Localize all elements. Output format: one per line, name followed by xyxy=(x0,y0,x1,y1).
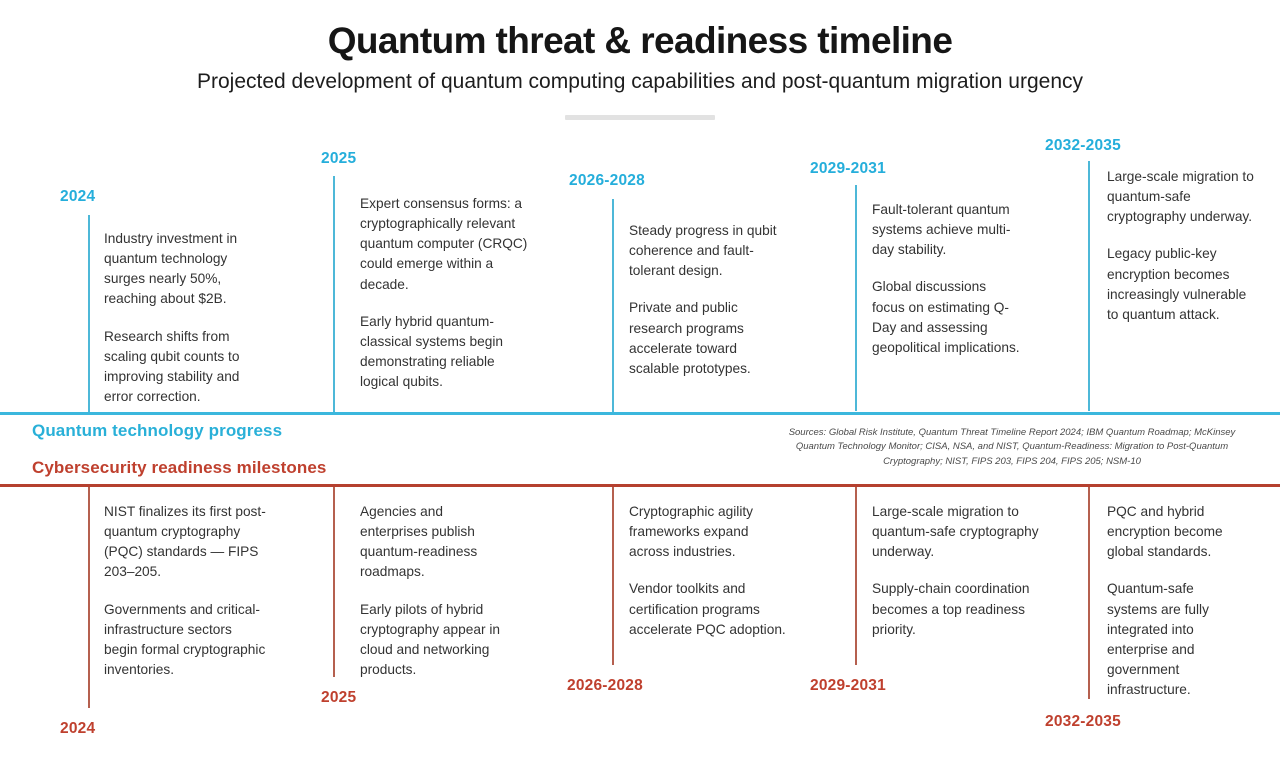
cyber-column-text: PQC and hybrid encryption become global … xyxy=(1107,502,1242,700)
tech-item-1: Large-scale migration to quantum-safe cr… xyxy=(1107,167,1257,227)
column-rule xyxy=(88,215,90,412)
page-subtitle: Projected development of quantum computi… xyxy=(0,69,1280,94)
cyber-year-label: 2032-2035 xyxy=(1045,713,1121,731)
cyber-year-label: 2029-2031 xyxy=(810,677,886,695)
column-rule xyxy=(855,487,857,665)
tech-item-1: Fault-tolerant quantum systems achieve m… xyxy=(872,200,1022,260)
cyber-year-label: 2026-2028 xyxy=(567,677,643,695)
tech-column-text: Steady progress in qubit coherence and f… xyxy=(629,221,779,379)
tech-item-2: Global discussions focus on estimating Q… xyxy=(872,277,1022,358)
tech-year-label: 2029-2031 xyxy=(810,160,886,178)
page-header: Quantum threat & readiness timeline Proj… xyxy=(0,0,1280,120)
column-rule xyxy=(1088,161,1090,411)
tech-year-label: 2032-2035 xyxy=(1045,137,1121,155)
tech-item-1: Industry investment in quantum technolog… xyxy=(104,229,264,310)
tech-item-2: Research shifts from scaling qubit count… xyxy=(104,327,264,408)
header-divider xyxy=(565,115,715,120)
tech-item-1: Steady progress in qubit coherence and f… xyxy=(629,221,779,281)
tech-column-text: Expert consensus forms: a cryptographica… xyxy=(360,194,530,392)
cyber-column-text: NIST finalizes its first post-quantum cr… xyxy=(104,502,269,680)
cyber-item-1: PQC and hybrid encryption become global … xyxy=(1107,502,1242,562)
tech-item-2: Early hybrid quantum-classical systems b… xyxy=(360,312,530,393)
cyber-year-label: 2025 xyxy=(321,689,356,707)
tech-item-2: Legacy public-key encryption becomes inc… xyxy=(1107,244,1257,325)
tech-column-text: Industry investment in quantum technolog… xyxy=(104,229,264,407)
cyber-item-1: Large-scale migration to quantum-safe cr… xyxy=(872,502,1052,562)
column-rule xyxy=(333,487,335,677)
cyber-item-2: Governments and critical-infrastructure … xyxy=(104,600,269,681)
cyber-column-text: Cryptographic agility frameworks expand … xyxy=(629,502,789,640)
cyber-item-2: Quantum-safe systems are fully integrate… xyxy=(1107,579,1242,700)
cyber-item-2: Supply-chain coordination becomes a top … xyxy=(872,579,1052,639)
cyber-item-1: Cryptographic agility frameworks expand … xyxy=(629,502,789,562)
tech-column-text: Large-scale migration to quantum-safe cr… xyxy=(1107,167,1257,325)
tech-year-label: 2025 xyxy=(321,150,356,168)
column-rule xyxy=(333,176,335,412)
cyber-item-1: Agencies and enterprises publish quantum… xyxy=(360,502,510,583)
column-rule xyxy=(88,487,90,708)
column-rule xyxy=(855,185,857,411)
tech-column-text: Fault-tolerant quantum systems achieve m… xyxy=(872,200,1022,358)
column-rule xyxy=(612,487,614,665)
tech-band-divider xyxy=(0,412,1280,415)
sources-note: Sources: Global Risk Institute, Quantum … xyxy=(772,426,1252,469)
tech-band-label: Quantum technology progress xyxy=(32,421,282,441)
cyber-year-label: 2024 xyxy=(60,720,95,738)
cyber-column-text: Agencies and enterprises publish quantum… xyxy=(360,502,510,680)
page-title: Quantum threat & readiness timeline xyxy=(0,20,1280,61)
tech-year-label: 2026-2028 xyxy=(569,172,645,190)
column-rule xyxy=(612,199,614,413)
cyber-item-1: NIST finalizes its first post-quantum cr… xyxy=(104,502,269,583)
cyber-column-text: Large-scale migration to quantum-safe cr… xyxy=(872,502,1052,640)
column-rule xyxy=(1088,487,1090,699)
cyber-item-2: Early pilots of hybrid cryptography appe… xyxy=(360,600,510,681)
tech-item-2: Private and public research programs acc… xyxy=(629,298,779,379)
cyber-band-label: Cybersecurity readiness milestones xyxy=(32,458,326,478)
tech-item-1: Expert consensus forms: a cryptographica… xyxy=(360,194,530,295)
tech-year-label: 2024 xyxy=(60,188,95,206)
cyber-item-2: Vendor toolkits and certification progra… xyxy=(629,579,789,639)
